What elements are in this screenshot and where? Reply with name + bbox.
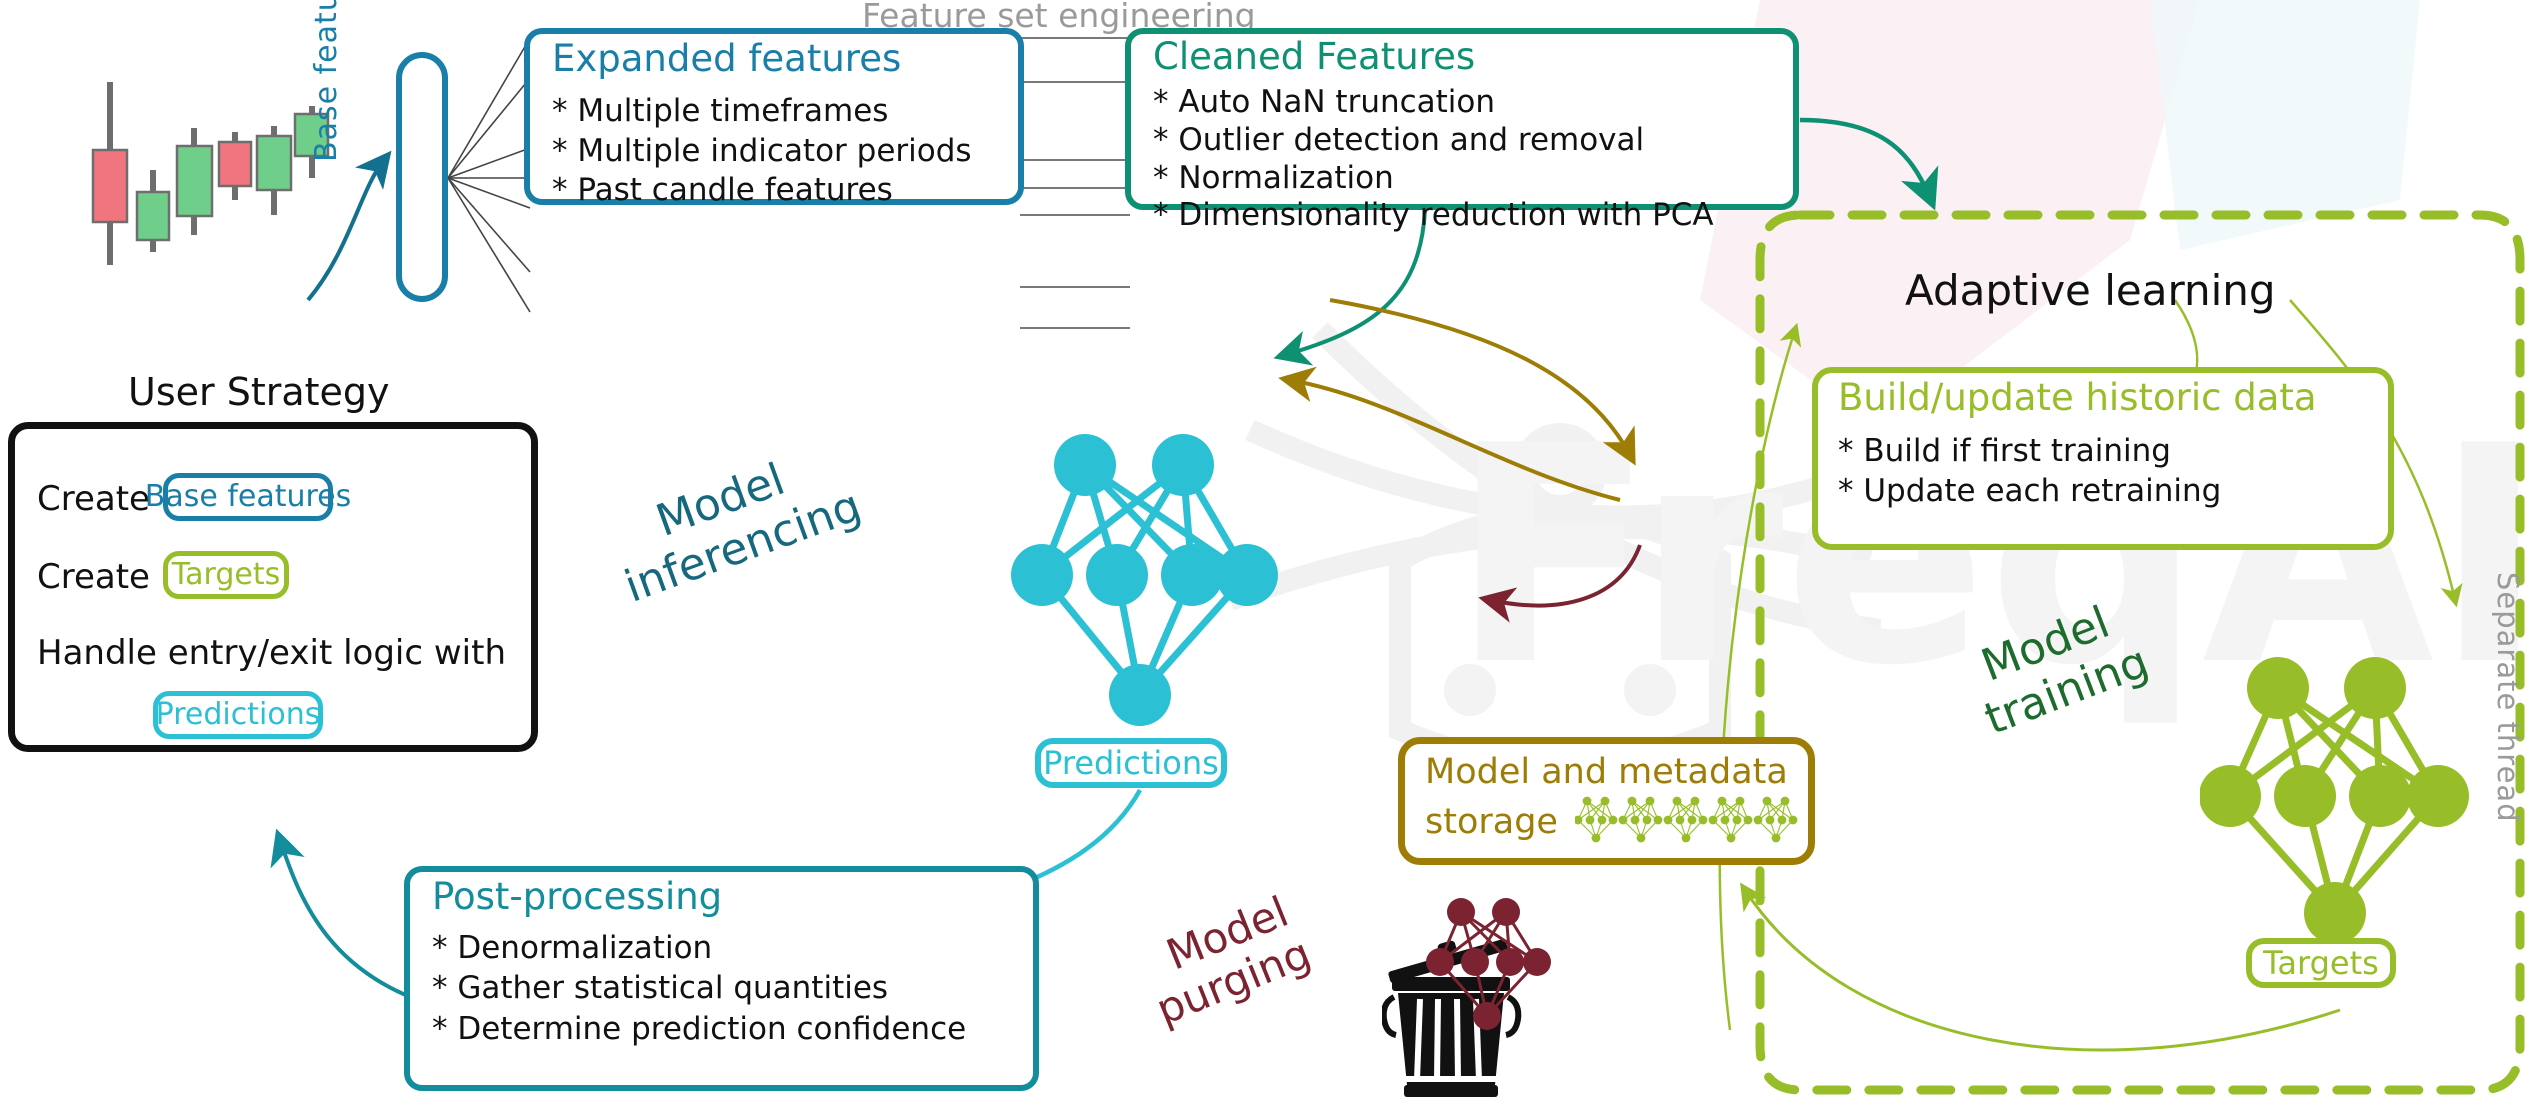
stored-models-strip-icon xyxy=(1575,792,1810,844)
list-item: * Determine prediction confidence xyxy=(432,1009,966,1049)
separate-thread-label: Separate thread xyxy=(2491,572,2525,823)
user-strategy-base-features-pill[interactable]: Base features xyxy=(163,473,333,521)
list-item: * Multiple timeframes xyxy=(552,92,972,132)
post-processing-bullets: * Denormalization * Gather statistical q… xyxy=(432,928,966,1049)
trash-can-icon xyxy=(1382,925,1522,1100)
predictions-node-pill[interactable]: Predictions xyxy=(1035,738,1227,788)
adaptive-learning-title: Adaptive learning xyxy=(1905,268,2276,314)
build-update-bullets: * Build if first training * Update each … xyxy=(1838,431,2221,512)
user-strategy-create-label-2: Create xyxy=(37,559,150,596)
list-item: * Denormalization xyxy=(432,928,966,968)
list-item: * Dimensionality reduction with PCA xyxy=(1153,197,1714,235)
targets-node-label: Targets xyxy=(2263,947,2379,979)
user-strategy-targets-pill-label: Targets xyxy=(172,560,280,590)
targets-node-pill[interactable]: Targets xyxy=(2246,938,2396,988)
list-item: * Multiple indicator periods xyxy=(552,132,972,172)
predictions-neural-net xyxy=(1010,420,1290,740)
user-strategy-base-features-pill-label: Base features xyxy=(145,482,352,512)
training-neural-net xyxy=(2200,648,2480,958)
list-item: * Build if first training xyxy=(1838,431,2221,471)
list-item: * Normalization xyxy=(1153,160,1714,198)
model-purging-label: Model purging xyxy=(1160,886,1317,1022)
user-strategy-targets-pill[interactable]: Targets xyxy=(163,551,289,599)
post-processing-box[interactable]: Post-processing * Denormalization * Gath… xyxy=(404,866,1039,1091)
user-strategy-handle-label: Handle entry/exit logic with xyxy=(37,635,506,672)
list-item: * Outlier detection and removal xyxy=(1153,122,1714,160)
diagram-canvas: FreqAI xyxy=(0,0,2539,1104)
base-features-pill[interactable]: Base features xyxy=(396,52,448,302)
model-training-label: Model training xyxy=(1975,590,2155,740)
cleaned-features-title: Cleaned Features xyxy=(1153,38,1475,77)
build-update-historic-data-box[interactable]: Build/update historic data * Build if fi… xyxy=(1812,367,2394,550)
list-item: * Update each retraining xyxy=(1838,471,2221,511)
expanded-features-box[interactable]: Expanded features * Multiple timeframes … xyxy=(524,28,1024,205)
model-inferencing-label: Model inferencing xyxy=(650,433,868,595)
cleaned-features-box[interactable]: Cleaned Features * Auto NaN truncation *… xyxy=(1125,28,1799,210)
expanded-features-bullets: * Multiple timeframes * Multiple indicat… xyxy=(552,92,972,211)
build-update-historic-data-title: Build/update historic data xyxy=(1838,379,2317,418)
purged-model-neural-net xyxy=(1425,890,1555,1035)
user-strategy-create-label-1: Create xyxy=(37,481,150,518)
expanded-features-title: Expanded features xyxy=(552,40,901,79)
user-strategy-predictions-pill[interactable]: Predictions xyxy=(153,691,323,739)
user-strategy-box[interactable]: Create Base features Create Targets Hand… xyxy=(8,422,538,752)
predictions-node-label: Predictions xyxy=(1043,747,1219,779)
cleaned-features-bullets: * Auto NaN truncation * Outlier detectio… xyxy=(1153,84,1714,235)
user-strategy-predictions-pill-label: Predictions xyxy=(156,700,321,730)
model-storage-line-2: storage xyxy=(1425,802,1558,842)
post-processing-title: Post-processing xyxy=(432,878,722,917)
list-item: * Gather statistical quantities xyxy=(432,968,966,1008)
model-storage-box[interactable]: Model and metadata storage xyxy=(1398,737,1815,865)
base-features-pill-label: Base features xyxy=(312,0,342,162)
list-item: * Past candle features xyxy=(552,171,972,211)
model-storage-line-1: Model and metadata xyxy=(1425,752,1788,792)
user-strategy-title: User Strategy xyxy=(128,372,390,414)
list-item: * Auto NaN truncation xyxy=(1153,84,1714,122)
